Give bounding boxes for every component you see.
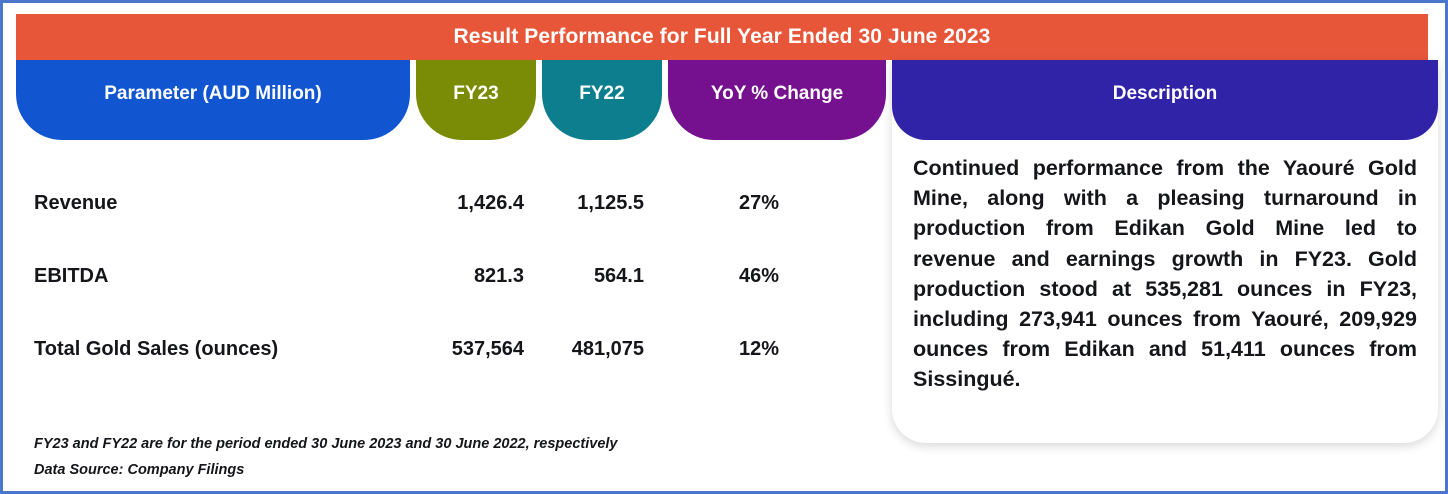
footnote-data-source: Data Source: Company Filings (34, 457, 854, 483)
cell-fy23: 821.3 (410, 265, 530, 288)
cell-fy22: 481,075 (530, 338, 650, 361)
footnote-period: FY23 and FY22 are for the period ended 3… (34, 431, 854, 457)
cell-yoy: 27% (650, 192, 868, 215)
cell-fy22: 1,125.5 (530, 192, 650, 215)
cell-fy23: 537,564 (410, 338, 530, 361)
cell-yoy: 46% (650, 265, 868, 288)
table-frame: Result Performance for Full Year Ended 3… (0, 0, 1448, 494)
cell-parameter: Total Gold Sales (ounces) (16, 338, 410, 361)
cell-fy23: 1,426.4 (410, 192, 530, 215)
column-header-yoy-change-label: YoY % Change (711, 83, 843, 117)
column-header-parameter-label: Parameter (AUD Million) (104, 83, 321, 117)
title-banner: Result Performance for Full Year Ended 3… (16, 14, 1428, 60)
description-text: Continued performance from the Yaouré Go… (892, 143, 1438, 395)
cell-fy22: 564.1 (530, 265, 650, 288)
column-header-fy23-label: FY23 (453, 83, 498, 117)
cell-parameter: EBITDA (16, 265, 410, 288)
footnotes: FY23 and FY22 are for the period ended 3… (34, 431, 854, 483)
column-header-description: Description (892, 60, 1438, 140)
table-row: Revenue 1,426.4 1,125.5 27% (16, 185, 888, 221)
column-header-fy22: FY22 (542, 60, 662, 140)
data-table: Revenue 1,426.4 1,125.5 27% EBITDA 821.3… (16, 143, 888, 423)
column-header-fy22-label: FY22 (579, 83, 624, 117)
column-header-yoy-change: YoY % Change (668, 60, 886, 140)
table-row: EBITDA 821.3 564.1 46% (16, 258, 888, 294)
cell-yoy: 12% (650, 338, 868, 361)
table-row: Total Gold Sales (ounces) 537,564 481,07… (16, 331, 888, 367)
cell-parameter: Revenue (16, 192, 410, 215)
page-title: Result Performance for Full Year Ended 3… (454, 25, 991, 49)
column-header-fy23: FY23 (416, 60, 536, 140)
column-header-parameter: Parameter (AUD Million) (16, 60, 410, 140)
column-header-description-label: Description (1113, 83, 1218, 117)
